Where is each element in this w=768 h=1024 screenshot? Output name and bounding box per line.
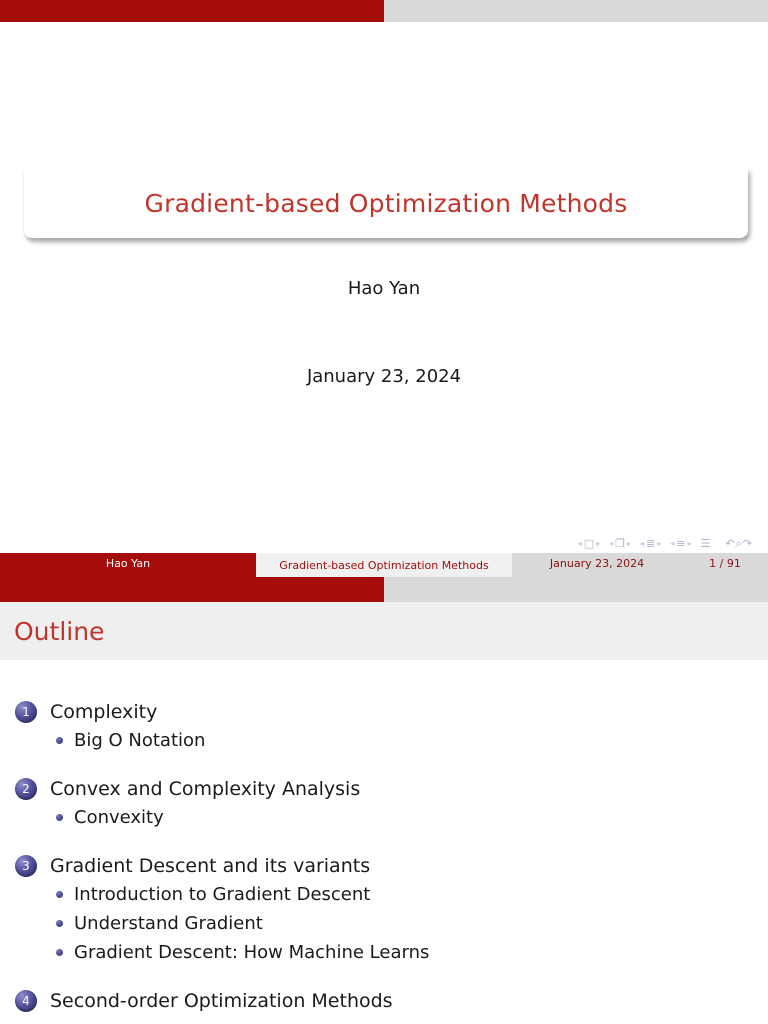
subsection-label[interactable]: Big O Notation bbox=[74, 730, 205, 751]
section-label[interactable]: Gradient Descent and its variants bbox=[50, 855, 370, 877]
presentation-date: January 23, 2024 bbox=[0, 366, 768, 387]
back-icon[interactable]: ↶ bbox=[725, 538, 734, 549]
outline-section: 1 Complexity Big O Notation bbox=[0, 698, 768, 755]
slide-top-bar bbox=[0, 0, 768, 22]
footer-date: January 23, 2024 bbox=[512, 557, 682, 570]
frame-title-bar: Outline bbox=[0, 602, 768, 660]
section-navigation-group[interactable]: ◂ ≡ ▸ bbox=[670, 538, 691, 549]
bullet-icon bbox=[56, 814, 63, 821]
outline-section: 3 Gradient Descent and its variants Intr… bbox=[0, 852, 768, 967]
section-icon[interactable]: ≡ bbox=[676, 538, 685, 549]
slide-footer: Hao Yan Gradient-based Optimization Meth… bbox=[0, 553, 768, 602]
subsection-icon[interactable]: ≣ bbox=[646, 538, 655, 549]
section-label[interactable]: Convex and Complexity Analysis bbox=[50, 778, 360, 800]
subsection-next-arrow-icon[interactable]: ▸ bbox=[657, 540, 661, 548]
footer-author: Hao Yan bbox=[0, 557, 256, 570]
section-number-badge: 2 bbox=[15, 778, 37, 800]
footer-title: Gradient-based Optimization Methods bbox=[256, 553, 512, 577]
section-number-badge: 3 bbox=[15, 855, 37, 877]
section-label[interactable]: Complexity bbox=[50, 701, 157, 723]
section-next-arrow-icon[interactable]: ▸ bbox=[688, 540, 692, 548]
title-slide: Gradient-based Optimization Methods Hao … bbox=[0, 0, 768, 602]
subsection-navigation-group[interactable]: ◂ ≣ ▸ bbox=[640, 538, 661, 549]
title-box: Gradient-based Optimization Methods bbox=[24, 168, 748, 238]
outline-section-row[interactable]: 1 Complexity bbox=[0, 698, 768, 726]
forward-icon[interactable]: ↷ bbox=[743, 538, 752, 549]
outline-subsection-row[interactable]: Gradient Descent: How Machine Learns bbox=[0, 938, 768, 967]
subsection-prev-arrow-icon[interactable]: ◂ bbox=[640, 540, 644, 548]
bullet-icon bbox=[56, 949, 63, 956]
outline-slide: Outline 1 Complexity Big O Notation 2 Co… bbox=[0, 602, 768, 1024]
beamer-navigation-symbols[interactable]: ◂ □ ▸ ◂ ❐ ▸ ◂ ≣ ▸ ◂ ≡ ▸ ☰ ↶ ⌕ ↷ bbox=[578, 538, 752, 549]
frame-navigation-group[interactable]: ◂ ❐ ▸ bbox=[609, 538, 631, 549]
slide-next-arrow-icon[interactable]: ▸ bbox=[596, 540, 600, 548]
outline-subsection-row[interactable]: Convexity bbox=[0, 803, 768, 832]
subsection-label[interactable]: Gradient Descent: How Machine Learns bbox=[74, 942, 429, 963]
bullet-icon bbox=[56, 737, 63, 744]
outline-list: 1 Complexity Big O Notation 2 Convex and… bbox=[0, 698, 768, 1024]
outline-subsection-row[interactable]: Introduction to Gradient Descent bbox=[0, 880, 768, 909]
section-number-badge: 4 bbox=[15, 990, 37, 1012]
outline-section-row[interactable]: 4 Second-order Optimization Methods bbox=[0, 987, 768, 1015]
subsection-label[interactable]: Introduction to Gradient Descent bbox=[74, 884, 370, 905]
subsection-label[interactable]: Convexity bbox=[74, 807, 164, 828]
frame-next-arrow-icon[interactable]: ▸ bbox=[627, 540, 631, 548]
frame-icon[interactable]: ❐ bbox=[615, 538, 625, 549]
slide-icon[interactable]: □ bbox=[584, 538, 594, 549]
footer-page-number: 1 / 91 bbox=[690, 557, 760, 570]
outline-section-row[interactable]: 2 Convex and Complexity Analysis bbox=[0, 775, 768, 803]
page-title: Outline bbox=[14, 617, 104, 646]
slide-navigation-group[interactable]: ◂ □ ▸ bbox=[578, 538, 600, 549]
outline-section: 2 Convex and Complexity Analysis Convexi… bbox=[0, 775, 768, 832]
document-icon[interactable]: ☰ bbox=[701, 538, 711, 549]
outline-section-row[interactable]: 3 Gradient Descent and its variants bbox=[0, 852, 768, 880]
section-label[interactable]: Second-order Optimization Methods bbox=[50, 990, 393, 1012]
slide-prev-arrow-icon[interactable]: ◂ bbox=[578, 540, 582, 548]
bullet-icon bbox=[56, 920, 63, 927]
section-prev-arrow-icon[interactable]: ◂ bbox=[670, 540, 674, 548]
presentation-author: Hao Yan bbox=[0, 278, 768, 299]
search-icon[interactable]: ⌕ bbox=[736, 538, 742, 549]
top-bar-red-segment bbox=[0, 0, 384, 22]
presentation-title: Gradient-based Optimization Methods bbox=[145, 189, 628, 218]
bullet-icon bbox=[56, 891, 63, 898]
history-navigation-group[interactable]: ↶ ⌕ ↷ bbox=[725, 538, 752, 549]
section-number-badge: 1 bbox=[15, 701, 37, 723]
outline-subsection-row[interactable]: Big O Notation bbox=[0, 726, 768, 755]
top-bar-gray-segment bbox=[384, 0, 768, 22]
outline-subsection-row[interactable]: Understand Gradient bbox=[0, 909, 768, 938]
outline-section: 4 Second-order Optimization Methods bbox=[0, 987, 768, 1015]
frame-prev-arrow-icon[interactable]: ◂ bbox=[609, 540, 613, 548]
subsection-label[interactable]: Understand Gradient bbox=[74, 913, 263, 934]
